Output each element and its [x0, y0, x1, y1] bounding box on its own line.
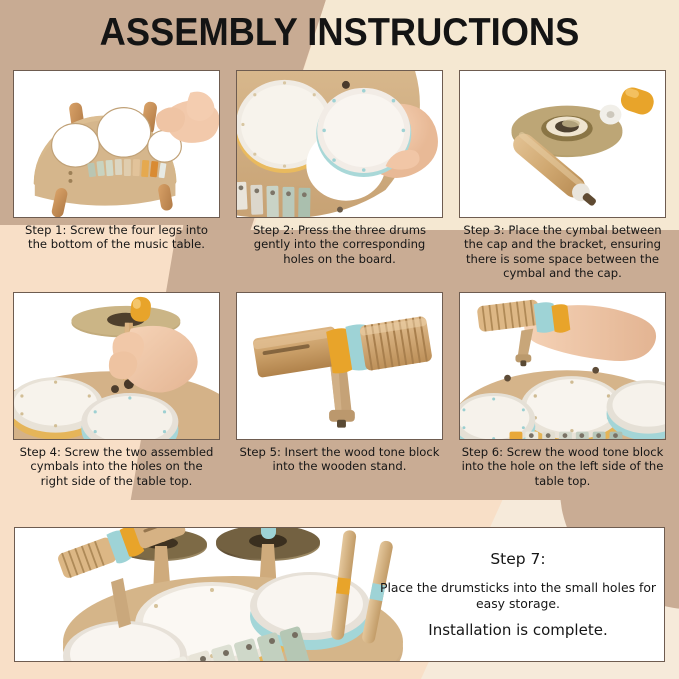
- step-card-6: Step 6: Screw the wood tone block into t…: [459, 292, 666, 488]
- step-1-photo: [13, 70, 220, 218]
- step-card-2: Step 2: Press the three drums gently int…: [236, 70, 443, 266]
- step-card-1: Step 1: Screw the four legs into the bot…: [13, 70, 220, 252]
- step-4-photo: [13, 292, 220, 440]
- music-table-board-illustration: [14, 71, 219, 218]
- step-2-photo: [236, 70, 443, 218]
- screwing-cymbal-into-table-illustration: [14, 293, 219, 440]
- step-1-caption: Step 1: Screw the four legs into the bot…: [13, 218, 220, 252]
- wood-tone-block-on-stand-illustration: [237, 293, 442, 440]
- step-6-caption: Step 6: Screw the wood tone block into t…: [459, 440, 666, 488]
- step-3-caption: Step 3: Place the cymbal between the cap…: [459, 218, 666, 281]
- step-5-caption: Step 5: Insert the wood tone block into …: [236, 440, 443, 474]
- step-7-text-block: Step 7: Place the drumsticks into the sm…: [372, 528, 664, 661]
- step-5-photo: [236, 292, 443, 440]
- step-7-body: Place the drumsticks into the small hole…: [372, 580, 664, 612]
- step-6-photo: [459, 292, 666, 440]
- screwing-wood-block-into-table-illustration: [460, 293, 665, 440]
- hand-pressing-drum-illustration: [237, 71, 442, 218]
- step-card-4: Step 4: Screw the two assembled cymbals …: [13, 292, 220, 488]
- step-card-3: Step 3: Place the cymbal between the cap…: [459, 70, 666, 281]
- step-2-caption: Step 2: Press the three drums gently int…: [236, 218, 443, 266]
- step-4-caption: Step 4: Screw the two assembled cymbals …: [13, 440, 220, 488]
- page-title: ASSEMBLY INSTRUCTIONS: [24, 11, 655, 55]
- infographic-root: ASSEMBLY INSTRUCTIONS: [0, 0, 679, 679]
- assembled-music-table-illustration: [15, 527, 415, 662]
- step-7-footer: Installation is complete.: [428, 621, 607, 640]
- step-3-photo: [459, 70, 666, 218]
- step-card-5: Step 5: Insert the wood tone block into …: [236, 292, 443, 474]
- step-7-heading: Step 7:: [490, 549, 545, 569]
- step-card-7: Step 7: Place the drumsticks into the sm…: [14, 527, 665, 662]
- cymbal-cap-bracket-illustration: [460, 71, 665, 218]
